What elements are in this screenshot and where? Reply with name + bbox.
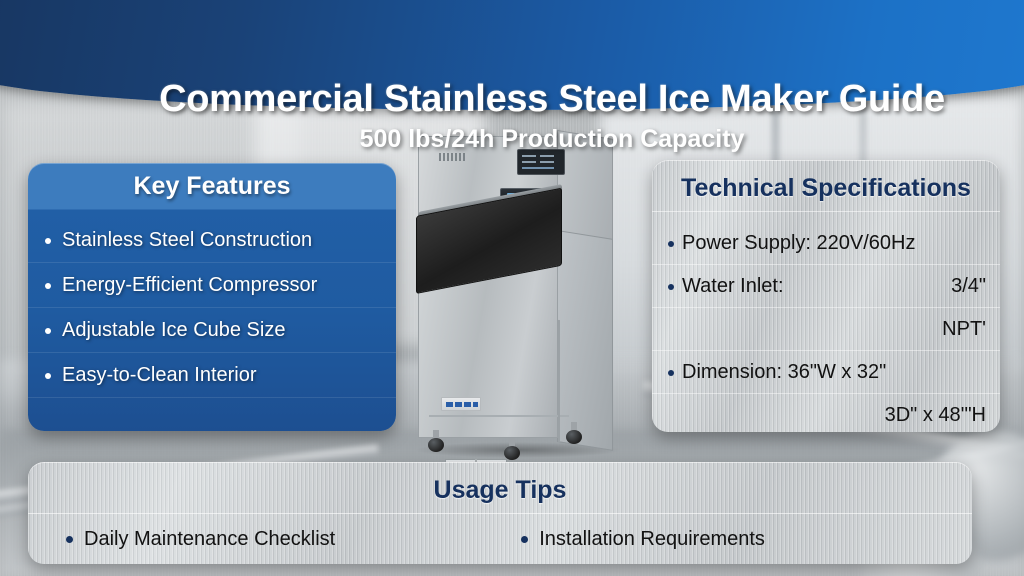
machine-seam-horizontal <box>429 415 569 417</box>
list-item[interactable]: Installation Requirements <box>505 528 765 551</box>
bullet-icon <box>521 536 528 543</box>
spec-row-water-inlet[interactable]: 3/4" Water Inlet: <box>652 265 1000 308</box>
poster-canvas: Commercial Stainless Steel Ice Maker Gui… <box>0 0 1024 576</box>
list-item[interactable]: Easy-to-Clean Interior <box>28 353 396 398</box>
machine-seam-vertical <box>558 320 560 442</box>
list-item[interactable]: Energy-Efficient Compressor <box>28 263 396 308</box>
list-item[interactable]: Adjustable Ice Cube Size <box>28 308 396 353</box>
list-item-label: Easy-to-Clean Interior <box>62 364 257 386</box>
spec-value-continuation-dimension: 3D" x 48'"H <box>652 394 1000 432</box>
usage-tips-panel: Usage Tips Daily Maintenance Checklist I… <box>28 462 972 564</box>
list-item[interactable]: Stainless Steel Construction <box>28 218 396 263</box>
spec-value: 3/4" <box>951 265 986 307</box>
technical-specifications-panel: Technical Specifications Power Supply: 2… <box>652 160 1000 432</box>
spec-row-power-supply[interactable]: Power Supply: 220V/60Hz <box>652 222 1000 265</box>
machine-lower-side-panel <box>557 230 613 451</box>
list-item-label: Installation Requirements <box>539 528 765 550</box>
list-item-label: Stainless Steel Construction <box>62 229 312 251</box>
bullet-icon <box>66 536 73 543</box>
bullet-icon <box>45 373 51 379</box>
page-subtitle: 500 lbs/24h Production Capacity <box>360 125 745 154</box>
page-title: Commercial Stainless Steel Ice Maker Gui… <box>159 78 945 121</box>
bullet-icon <box>668 284 674 290</box>
list-item-label: Energy-Efficient Compressor <box>62 274 317 296</box>
caster-wheel-left <box>428 430 444 452</box>
bullet-icon <box>668 241 674 247</box>
spec-value-continuation-npt: NPT' <box>652 308 1000 351</box>
spec-label: Dimension: 36"W x 32" <box>682 361 886 383</box>
caster-wheel-right <box>566 422 582 444</box>
caster-wheel-center <box>504 438 520 460</box>
bullet-icon <box>45 283 51 289</box>
bullet-icon <box>45 238 51 244</box>
key-features-list: Stainless Steel Construction Energy-Effi… <box>28 210 396 398</box>
list-item[interactable]: Daily Maintenance Checklist <box>50 528 335 551</box>
spec-label: Water Inlet: <box>682 275 784 297</box>
spec-row-dimension[interactable]: Dimension: 36"W x 32" <box>652 351 1000 394</box>
bullet-icon <box>45 328 51 334</box>
technical-specifications-list: Power Supply: 220V/60Hz 3/4" Water Inlet… <box>652 212 1000 432</box>
usage-tips-title: Usage Tips <box>28 462 972 514</box>
list-item-label: Adjustable Ice Cube Size <box>62 319 285 341</box>
key-features-title: Key Features <box>28 163 396 210</box>
usage-tips-list: Daily Maintenance Checklist Installation… <box>28 514 972 564</box>
spec-label: Power Supply: 220V/60Hz <box>682 232 915 254</box>
list-item-label: Daily Maintenance Checklist <box>84 528 335 550</box>
machine-badge <box>441 397 481 411</box>
technical-specifications-title: Technical Specifications <box>652 160 1000 212</box>
bullet-icon <box>668 370 674 376</box>
key-features-panel: Key Features Stainless Steel Constructio… <box>28 163 396 431</box>
